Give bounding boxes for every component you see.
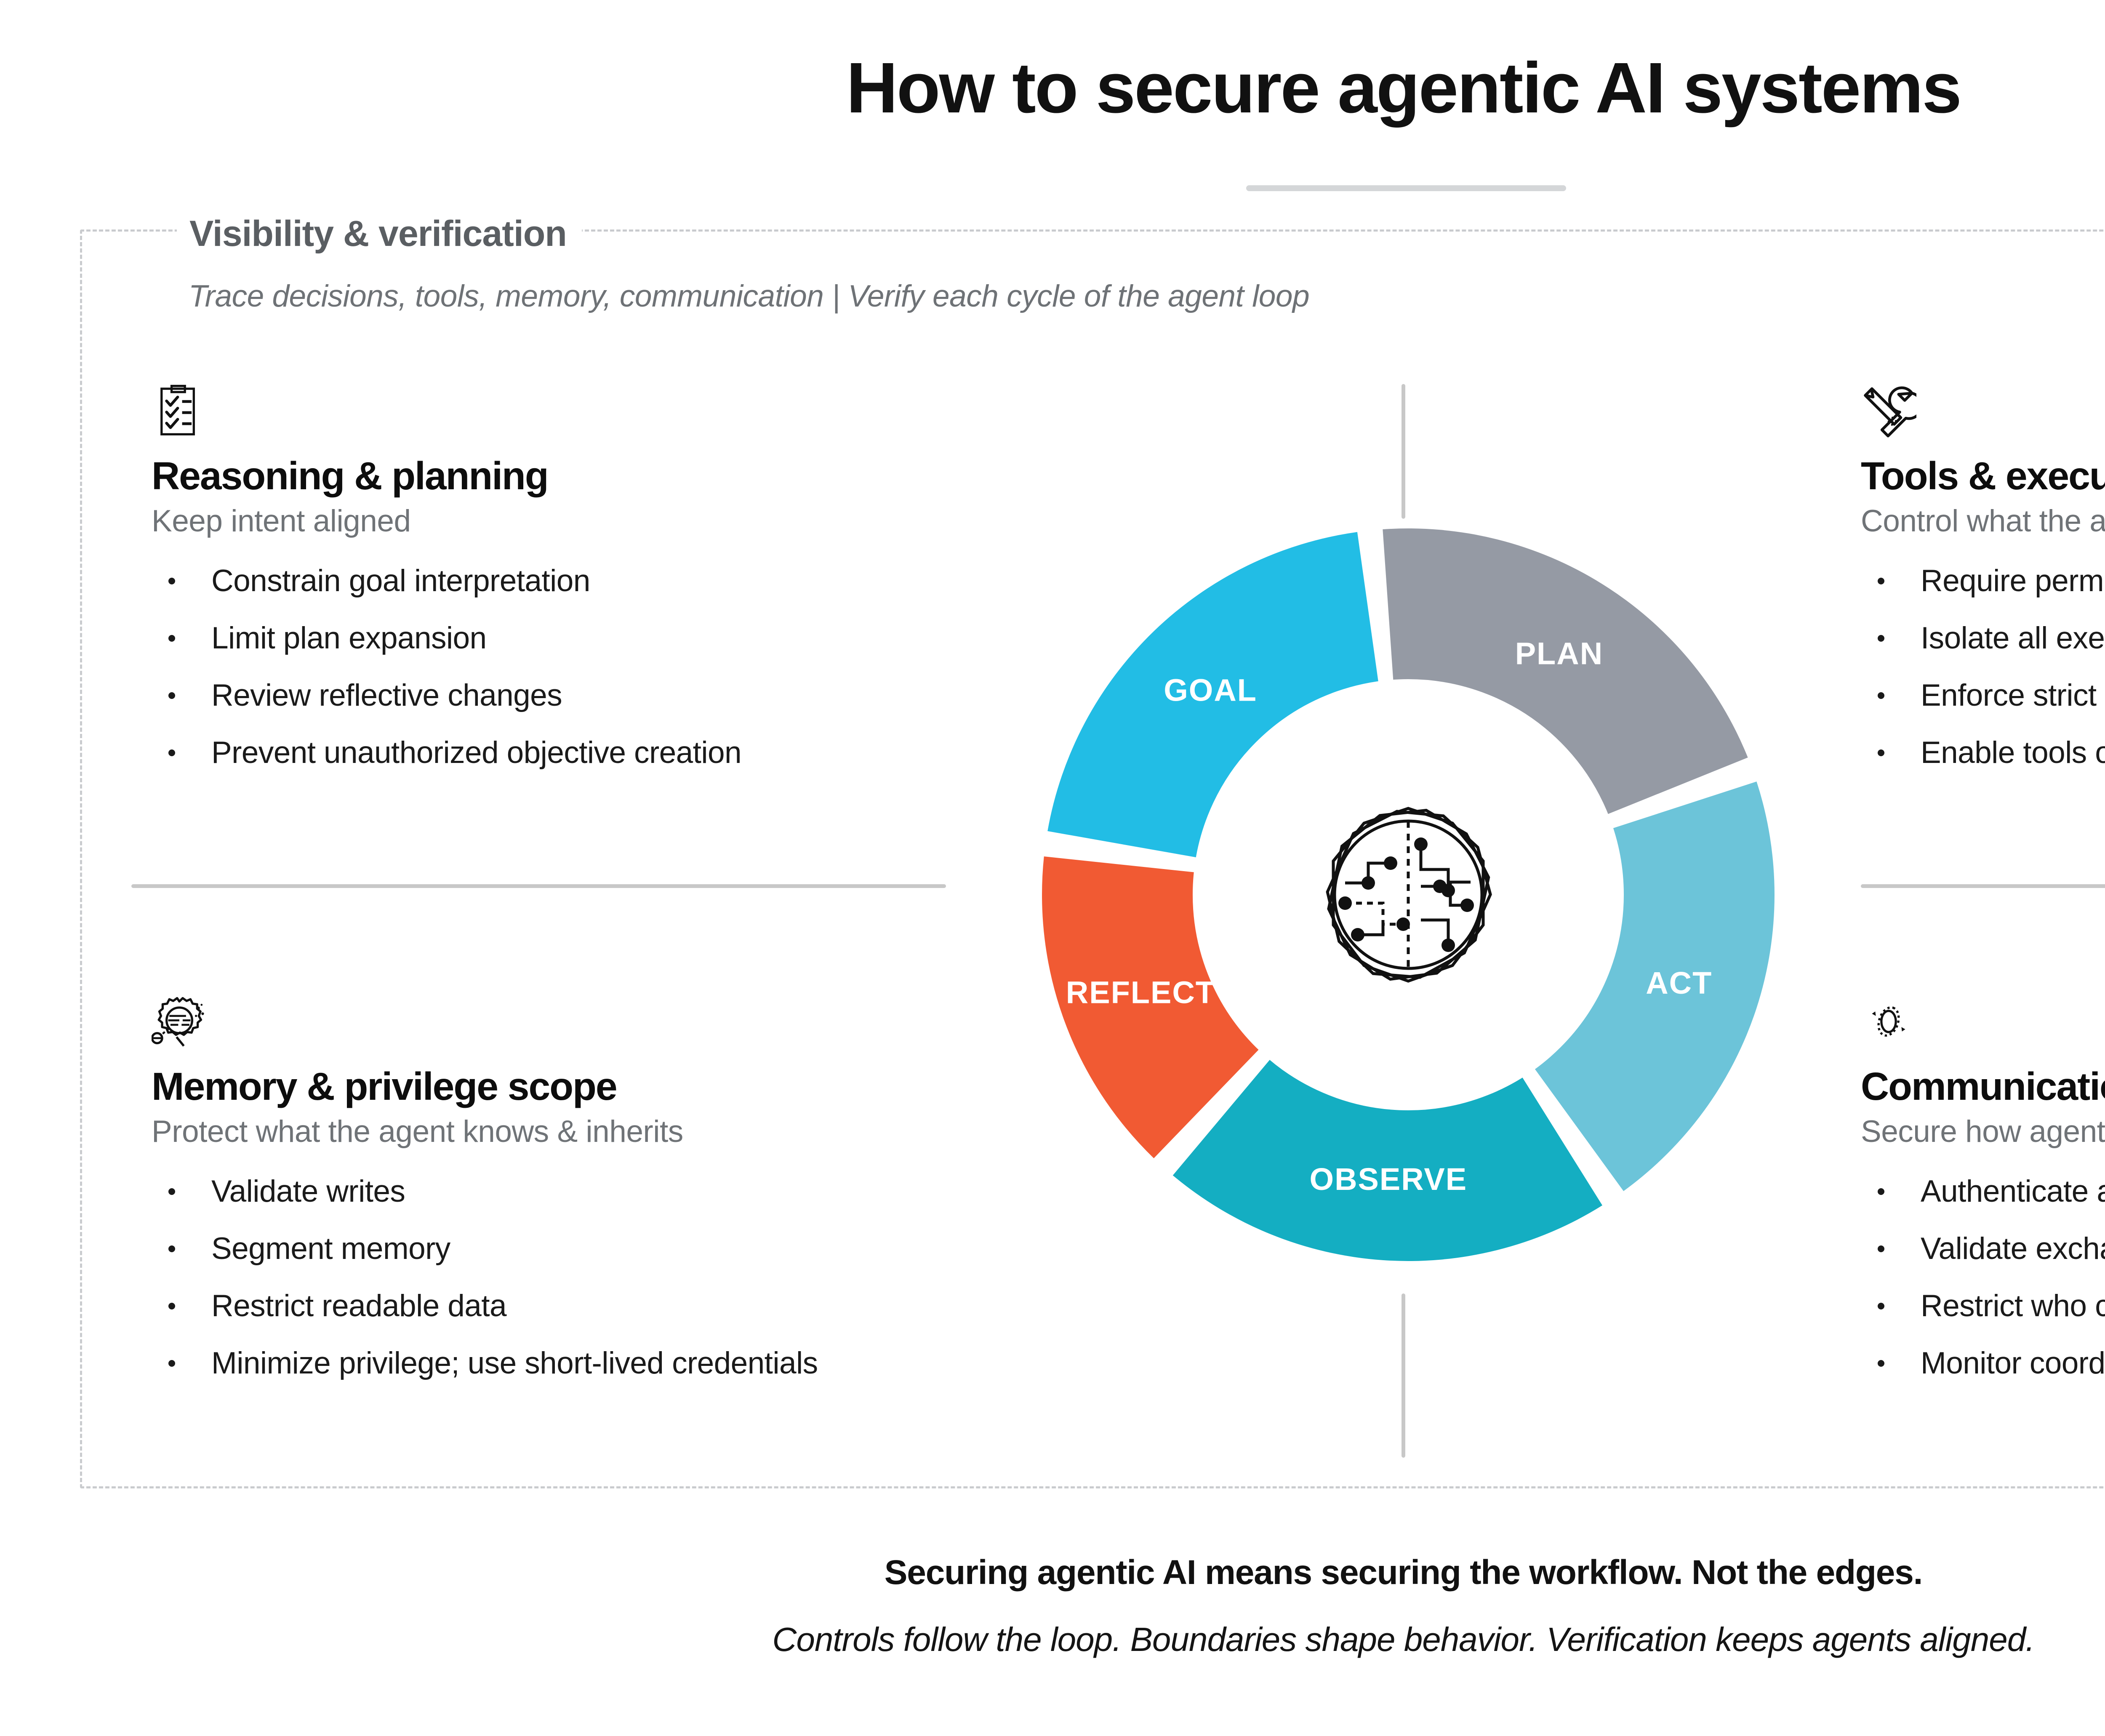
bullet-dot-icon <box>1878 635 1884 642</box>
bullet-dot-icon <box>168 1303 175 1309</box>
donut-label-observe: OBSERVE <box>1310 1162 1468 1197</box>
footer-headline: Securing agentic AI means securing the w… <box>0 1553 2105 1592</box>
list-item: Validate exchanged data <box>1861 1220 2105 1277</box>
quadrant-reasoning-planning: Reasoning & planning Keep intent aligned… <box>152 383 1036 781</box>
quadrant-subtitle: Control what the agent can do <box>1861 504 2105 538</box>
list-item-label: Monitor coordination for influence attem… <box>1921 1346 2105 1380</box>
list-item-label: Enable tools only when needed <box>1921 736 2105 770</box>
page-title: How to secure agentic AI systems <box>0 51 2105 126</box>
list-item-label: Enforce strict input rules <box>1921 678 2105 712</box>
list-item: Monitor coordination for influence attem… <box>1861 1335 2105 1392</box>
quadrant-bullet-list: Validate writes Segment memory Restrict … <box>152 1163 1120 1392</box>
list-item-label: Require permission before tool calls <box>1921 564 2105 598</box>
bullet-dot-icon <box>1878 578 1884 584</box>
list-item: Minimize privilege; use short-lived cred… <box>152 1335 1120 1392</box>
donut-label-plan: PLAN <box>1515 636 1603 671</box>
list-item-label: Minimize privilege; use short-lived cred… <box>211 1346 818 1380</box>
footer-subline: Controls follow the loop. Boundaries sha… <box>0 1620 2105 1659</box>
visibility-banner: Visibility & verification <box>177 211 582 257</box>
visibility-label: Visibility & verification <box>189 211 567 257</box>
title-underline <box>1246 185 1566 191</box>
bullet-dot-icon <box>1878 1360 1884 1367</box>
quadrant-title: Memory & privilege scope <box>152 1066 1120 1107</box>
list-item: Validate writes <box>152 1163 1120 1220</box>
list-item-label: Restrict readable data <box>211 1289 506 1323</box>
divider-left-horizontal <box>131 884 946 888</box>
infographic-page: How to secure agentic AI systems Visibil… <box>0 0 2105 1736</box>
list-item: Limit plan expansion <box>152 610 1036 667</box>
list-item-label: Limit plan expansion <box>211 621 487 655</box>
visibility-subtitle: Trace decisions, tools, memory, communic… <box>189 279 1309 314</box>
donut-label-reflect: REFLECT <box>1066 975 1215 1010</box>
divider-right-horizontal <box>1861 884 2105 888</box>
bullet-dot-icon <box>168 578 175 584</box>
bullet-dot-icon <box>168 635 175 642</box>
quadrant-subtitle: Keep intent aligned <box>152 504 1036 538</box>
quadrant-tools-execution: Tools & execution Control what the agent… <box>1861 383 2105 781</box>
list-item-label: Constrain goal interpretation <box>211 564 590 598</box>
gear-memory-icon <box>152 994 207 1049</box>
orbit-loop-icon <box>1861 994 1916 1049</box>
bullet-dot-icon <box>168 1245 175 1252</box>
list-item: Restrict readable data <box>152 1277 1120 1335</box>
list-item-label: Isolate all execution <box>1921 621 2105 655</box>
quadrant-memory-privilege-scope: Memory & privilege scope Protect what th… <box>152 994 1120 1392</box>
bullet-dot-icon <box>168 1360 175 1367</box>
list-item: Authenticate agents <box>1861 1163 2105 1220</box>
list-item-label: Restrict who can message who <box>1921 1289 2105 1323</box>
bullet-dot-icon <box>1878 1245 1884 1252</box>
quadrant-title: Reasoning & planning <box>152 456 1036 497</box>
list-item: Segment memory <box>152 1220 1120 1277</box>
list-item-label: Validate writes <box>211 1174 405 1208</box>
list-item: Isolate all execution <box>1861 610 2105 667</box>
divider-center-bottom <box>1402 1293 1405 1458</box>
list-item-label: Authenticate agents <box>1921 1174 2105 1208</box>
list-item-label: Review reflective changes <box>211 678 562 712</box>
quadrant-bullet-list: Authenticate agents Validate exchanged d… <box>1861 1163 2105 1392</box>
list-item-label: Prevent unauthorized objective creation <box>211 736 741 770</box>
bullet-dot-icon <box>1878 692 1884 699</box>
quadrant-title: Tools & execution <box>1861 456 2105 497</box>
clipboard-checklist-icon <box>152 383 207 439</box>
agent-loop-donut-chart: GOALPLANACTOBSERVEREFLECT <box>1008 495 1808 1295</box>
quadrant-subtitle: Protect what the agent knows & inherits <box>152 1115 1120 1149</box>
bullet-dot-icon <box>1878 1188 1884 1195</box>
list-item: Prevent unauthorized objective creation <box>152 724 1036 781</box>
list-item: Restrict who can message who <box>1861 1277 2105 1335</box>
bullet-dot-icon <box>168 749 175 756</box>
quadrant-title: Communication & coordination <box>1861 1066 2105 1107</box>
quadrant-bullet-list: Require permission before tool calls Iso… <box>1861 552 2105 781</box>
list-item: Review reflective changes <box>152 667 1036 724</box>
list-item: Enforce strict input rules <box>1861 667 2105 724</box>
bullet-dot-icon <box>1878 1303 1884 1309</box>
wrench-screwdriver-icon <box>1861 383 1916 439</box>
donut-label-goal: GOAL <box>1164 672 1257 707</box>
quadrant-bullet-list: Constrain goal interpretation Limit plan… <box>152 552 1036 781</box>
list-item-label: Segment memory <box>211 1232 450 1266</box>
bullet-dot-icon <box>168 1188 175 1195</box>
bullet-dot-icon <box>1878 749 1884 756</box>
quadrant-communication-coordination: Communication & coordination Secure how … <box>1861 994 2105 1392</box>
quadrant-subtitle: Secure how agents interact <box>1861 1115 2105 1149</box>
list-item: Constrain goal interpretation <box>152 552 1036 610</box>
donut-label-act: ACT <box>1646 965 1712 1000</box>
list-item: Require permission before tool calls <box>1861 552 2105 610</box>
bullet-dot-icon <box>168 692 175 699</box>
list-item: Enable tools only when needed <box>1861 724 2105 781</box>
list-item-label: Validate exchanged data <box>1921 1232 2105 1266</box>
